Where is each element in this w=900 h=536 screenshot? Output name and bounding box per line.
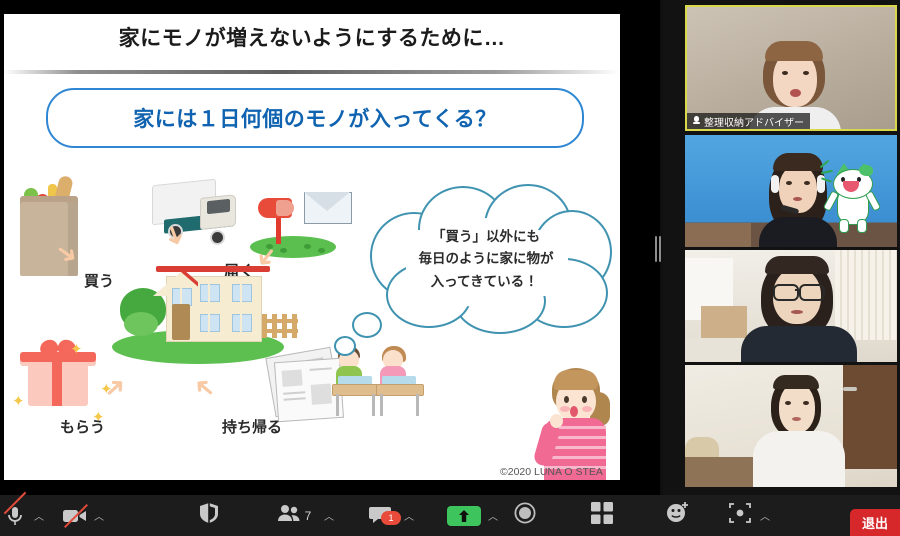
- mic-icon: [693, 116, 700, 126]
- slide-illustration: 買う 届く: [4, 154, 620, 480]
- breakout-rooms-icon: [591, 502, 613, 529]
- reactions-icon: [666, 502, 690, 529]
- thought-bubble-text: 「買う」以外にも 毎日のように家に物が 入ってきている ！: [380, 226, 592, 293]
- participants-count: 7: [305, 509, 312, 523]
- camera-muted-icon: [62, 506, 88, 526]
- chat-unread-badge: 1: [381, 511, 401, 525]
- microphone-muted-icon: [3, 504, 27, 528]
- video-tile-4[interactable]: [685, 365, 897, 487]
- apps-options-caret[interactable]: ︿: [758, 495, 772, 536]
- zoom-meeting-window: 家にモノが増えないようにするために… 家には１日何個のモノが入ってくる？ 買う: [0, 0, 900, 536]
- shared-screen-region[interactable]: 家にモノが増えないようにするために… 家には１日何個のモノが入ってくる？ 買う: [0, 0, 660, 495]
- share-screen-button[interactable]: [442, 495, 486, 536]
- apps-icon: [729, 502, 751, 529]
- video-options-caret[interactable]: ︿: [92, 495, 106, 536]
- slide-copyright: ©2020 LUNA O STEA: [500, 466, 603, 478]
- chat-icon: 1: [369, 504, 395, 528]
- participants-options-caret[interactable]: ︿: [322, 495, 336, 536]
- audio-options-caret[interactable]: ︿: [32, 495, 46, 536]
- mute-audio-button[interactable]: [0, 495, 32, 536]
- security-button[interactable]: [192, 495, 226, 536]
- leave-meeting-button[interactable]: 退出: [850, 509, 900, 536]
- reactions-button[interactable]: [660, 495, 696, 536]
- meeting-toolbar: ︿ ︿: [0, 495, 900, 536]
- participant-gallery: 整理収納アドバイザー: [663, 0, 900, 495]
- video-tile-3[interactable]: [685, 250, 897, 362]
- presentation-slide: 家にモノが増えないようにするために… 家には１日何個のモノが入ってくる？ 買う: [4, 14, 620, 480]
- record-icon: [514, 502, 536, 529]
- record-button[interactable]: [508, 495, 542, 536]
- chat-options-caret[interactable]: ︿: [402, 495, 416, 536]
- shield-icon: [199, 502, 219, 529]
- panel-drag-handle[interactable]: [654, 236, 662, 262]
- participants-button[interactable]: 7: [268, 495, 320, 536]
- share-screen-icon: [447, 506, 481, 526]
- participant-name-1: 整理収納アドバイザー: [704, 114, 804, 129]
- participant-name-label-1: 整理収納アドバイザー: [687, 113, 810, 129]
- stop-video-button[interactable]: [58, 495, 92, 536]
- apps-button[interactable]: [722, 495, 758, 536]
- participants-icon: [277, 504, 301, 527]
- share-options-caret[interactable]: ︿: [486, 495, 500, 536]
- chat-button[interactable]: 1: [362, 495, 402, 536]
- video-tile-1[interactable]: 整理収納アドバイザー: [685, 5, 897, 131]
- breakout-rooms-button[interactable]: [584, 495, 620, 536]
- video-tile-2[interactable]: [685, 135, 897, 247]
